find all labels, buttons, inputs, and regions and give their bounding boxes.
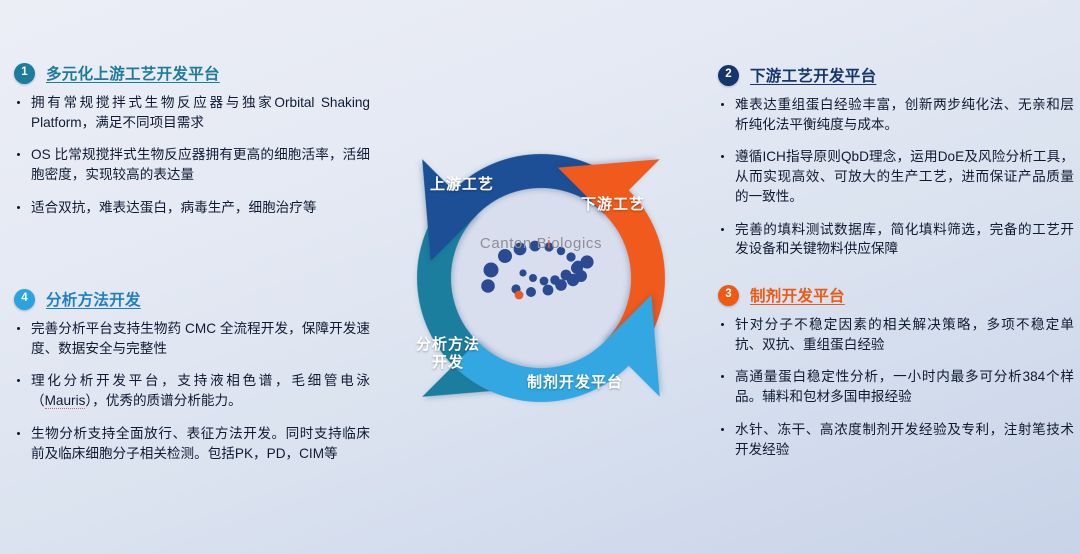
section-2-bullets: 难表达重组蛋白经验丰富，创新两步纯化法、无亲和层析纯化法平衡纯度与成本。 遵循I…	[718, 95, 1074, 259]
section-1: 1 多元化上游工艺开发平台 拥有常规搅拌式生物反应器与独家Orbital Sha…	[14, 62, 370, 218]
label-formulation: 制剂开发平台	[505, 374, 645, 392]
list-item: OS 比常规搅拌式生物反应器拥有更高的细胞活率，活细胞密度，实现较高的表达量	[14, 145, 370, 184]
list-item: 拥有常规搅拌式生物反应器与独家Orbital Shaking Platform，…	[14, 93, 370, 132]
list-item: 适合双抗，难表达蛋白，病毒生产，细胞治疗等	[14, 198, 370, 218]
slide-canvas: 上游工艺 下游工艺 分析方法 开发 制剂开发平台 Canton Biologic…	[0, 0, 1080, 554]
section-4-title: 分析方法开发	[46, 288, 141, 310]
section-4-bullets: 完善分析平台支持生物药 CMC 全流程开发，保障开发速度、数据安全与完整性 理化…	[14, 319, 370, 463]
list-item: 完善的填料测试数据库，简化填料筛选，完备的工艺开发设备和关键物料供应保障	[718, 220, 1074, 259]
label-downstream: 下游工艺	[558, 196, 668, 214]
company-logo: Canton Biologics	[461, 238, 621, 330]
section-1-title: 多元化上游工艺开发平台	[46, 62, 220, 84]
list-item: 理化分析开发平台，支持液相色谱，毛细管电泳（Mauris），优秀的质谱分析能力。	[14, 371, 370, 410]
list-item: 针对分子不稳定因素的相关解决策略，多项不稳定单抗、双抗、重组蛋白经验	[718, 315, 1074, 354]
section-2: 2 下游工艺开发平台 难表达重组蛋白经验丰富，创新两步纯化法、无亲和层析纯化法平…	[718, 64, 1074, 259]
section-1-header: 1 多元化上游工艺开发平台	[14, 62, 370, 84]
list-item: 水针、冻干、高浓度制剂开发经验及专利，注射笔技术开发经验	[718, 420, 1074, 459]
list-item: 生物分析支持全面放行、表征方法开发。同时支持临床前及临床细胞分子相关检测。包括P…	[14, 424, 370, 463]
list-item-text-tail: ），优秀的质谱分析能力。	[85, 393, 241, 408]
section-4-header: 4 分析方法开发	[14, 288, 370, 310]
cycle-diagram: 上游工艺 下游工艺 分析方法 开发 制剂开发平台 Canton Biologic…	[355, 78, 727, 478]
list-item-text: 完善分析平台支持生物药 CMC 全流程开发，保障开发速度、数据安全与完整性	[31, 321, 370, 356]
list-item: 高通量蛋白稳定性分析，一小时内最多可分析384个样品。辅料和包材多国申报经验	[718, 367, 1074, 406]
section-3: 3 制剂开发平台 针对分子不稳定因素的相关解决策略，多项不稳定单抗、双抗、重组蛋…	[718, 284, 1074, 459]
section-3-header: 3 制剂开发平台	[718, 284, 1074, 306]
list-item-text: 生物分析支持全面放行、表征方法开发。同时支持临床前及临床细胞分子相关检测。包括P…	[31, 426, 370, 461]
list-item: 遵循ICH指导原则QbD理念，运用DoE及风险分析工具，从而实现高效、可放大的生…	[718, 147, 1074, 206]
logo-word-c: ologics	[551, 235, 602, 252]
list-item: 完善分析平台支持生物药 CMC 全流程开发，保障开发速度、数据安全与完整性	[14, 319, 370, 358]
list-item: 难表达重组蛋白经验丰富，创新两步纯化法、无亲和层析纯化法平衡纯度与成本。	[718, 95, 1074, 134]
section-3-bullets: 针对分子不稳定因素的相关解决策略，多项不稳定单抗、双抗、重组蛋白经验 高通量蛋白…	[718, 315, 1074, 459]
section-3-title: 制剂开发平台	[750, 284, 845, 306]
list-item-emphasis: Mauris	[45, 393, 86, 409]
badge-4: 4	[14, 289, 35, 310]
logo-word-a: Canton B	[480, 235, 547, 252]
logo-wordmark: Canton Biologics	[461, 235, 621, 252]
badge-2: 2	[718, 65, 739, 86]
section-1-bullets: 拥有常规搅拌式生物反应器与独家Orbital Shaking Platform，…	[14, 93, 370, 218]
section-4: 4 分析方法开发 完善分析平台支持生物药 CMC 全流程开发，保障开发速度、数据…	[14, 288, 370, 463]
section-2-header: 2 下游工艺开发平台	[718, 64, 1074, 86]
badge-1: 1	[14, 63, 35, 84]
section-2-title: 下游工艺开发平台	[750, 64, 876, 86]
badge-3: 3	[718, 285, 739, 306]
label-analytics: 分析方法 开发	[393, 336, 503, 372]
label-upstream: 上游工艺	[407, 176, 517, 194]
